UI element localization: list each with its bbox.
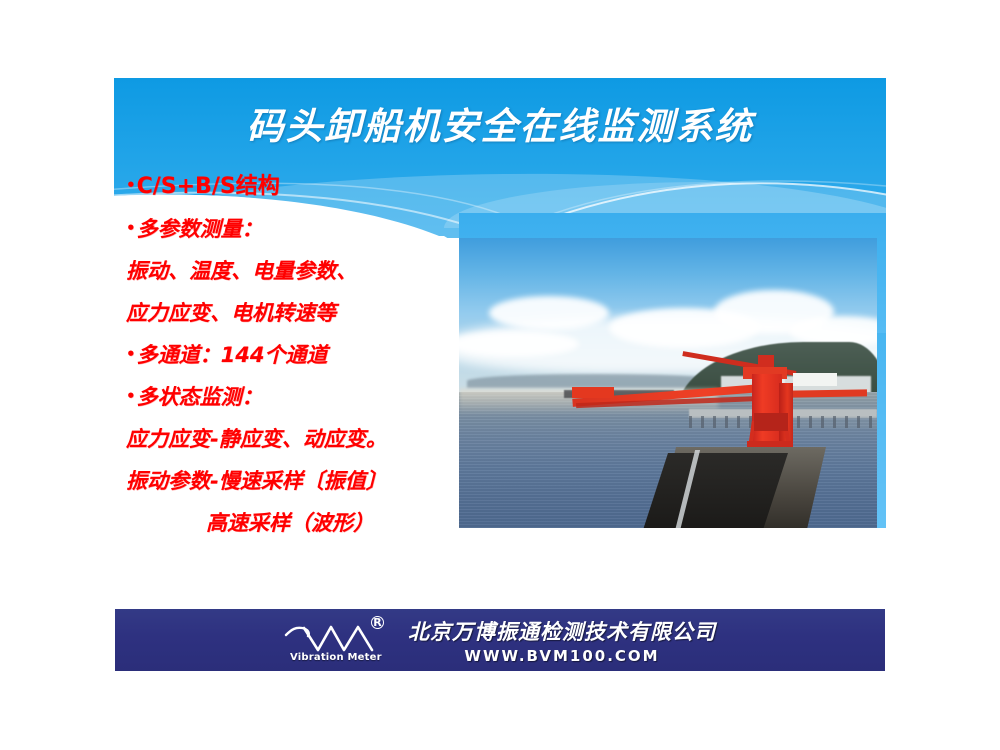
crane-machinery	[754, 413, 788, 431]
bullet-item-3: 应力应变、电机转速等	[126, 297, 466, 327]
company-name: 北京万博振通检测技术有限公司	[408, 616, 716, 646]
company-website[interactable]: WWW.BVM100.COM	[464, 647, 659, 665]
bullet-item-4: 多通道：144个通道	[126, 339, 466, 369]
bullet-list: C/S+B/S结构 多参数测量： 振动、温度、电量参数、 应力应变、电机转速等 …	[126, 168, 466, 549]
vibration-meter-logo: R Vibration Meter	[284, 617, 396, 663]
bullet-item-5: 多状态监测：	[126, 381, 466, 411]
photo-cloud	[489, 296, 609, 330]
footer-bar: R Vibration Meter 北京万博振通检测技术有限公司 WWW.BVM…	[115, 609, 885, 671]
bullet-item-1: 多参数测量：	[126, 213, 466, 243]
crane-name-sign	[793, 373, 837, 386]
bullet-item-6: 应力应变-静应变、动应变。	[126, 423, 466, 453]
bullet-item-0: C/S+B/S结构	[126, 168, 466, 200]
slide-title: 码头卸船机安全在线监测系统	[114, 96, 886, 150]
crane-boom-tip	[572, 387, 614, 398]
photo-cloud	[459, 331, 579, 357]
bullet-item-8: 高速采样（波形）	[126, 507, 466, 537]
harbor-crane-photo	[459, 238, 877, 528]
slide-canvas: 码头卸船机安全在线监测系统 C/S+B/S结构 多参数测量： 振动、温度、电量参…	[0, 0, 1000, 750]
logo-wordmark: Vibration Meter	[290, 652, 382, 663]
bullet-item-2: 振动、温度、电量参数、	[126, 255, 466, 285]
registered-trademark-icon: R	[371, 616, 384, 629]
bullet-item-7: 振动参数-慢速采样〔振值〕	[126, 465, 466, 495]
